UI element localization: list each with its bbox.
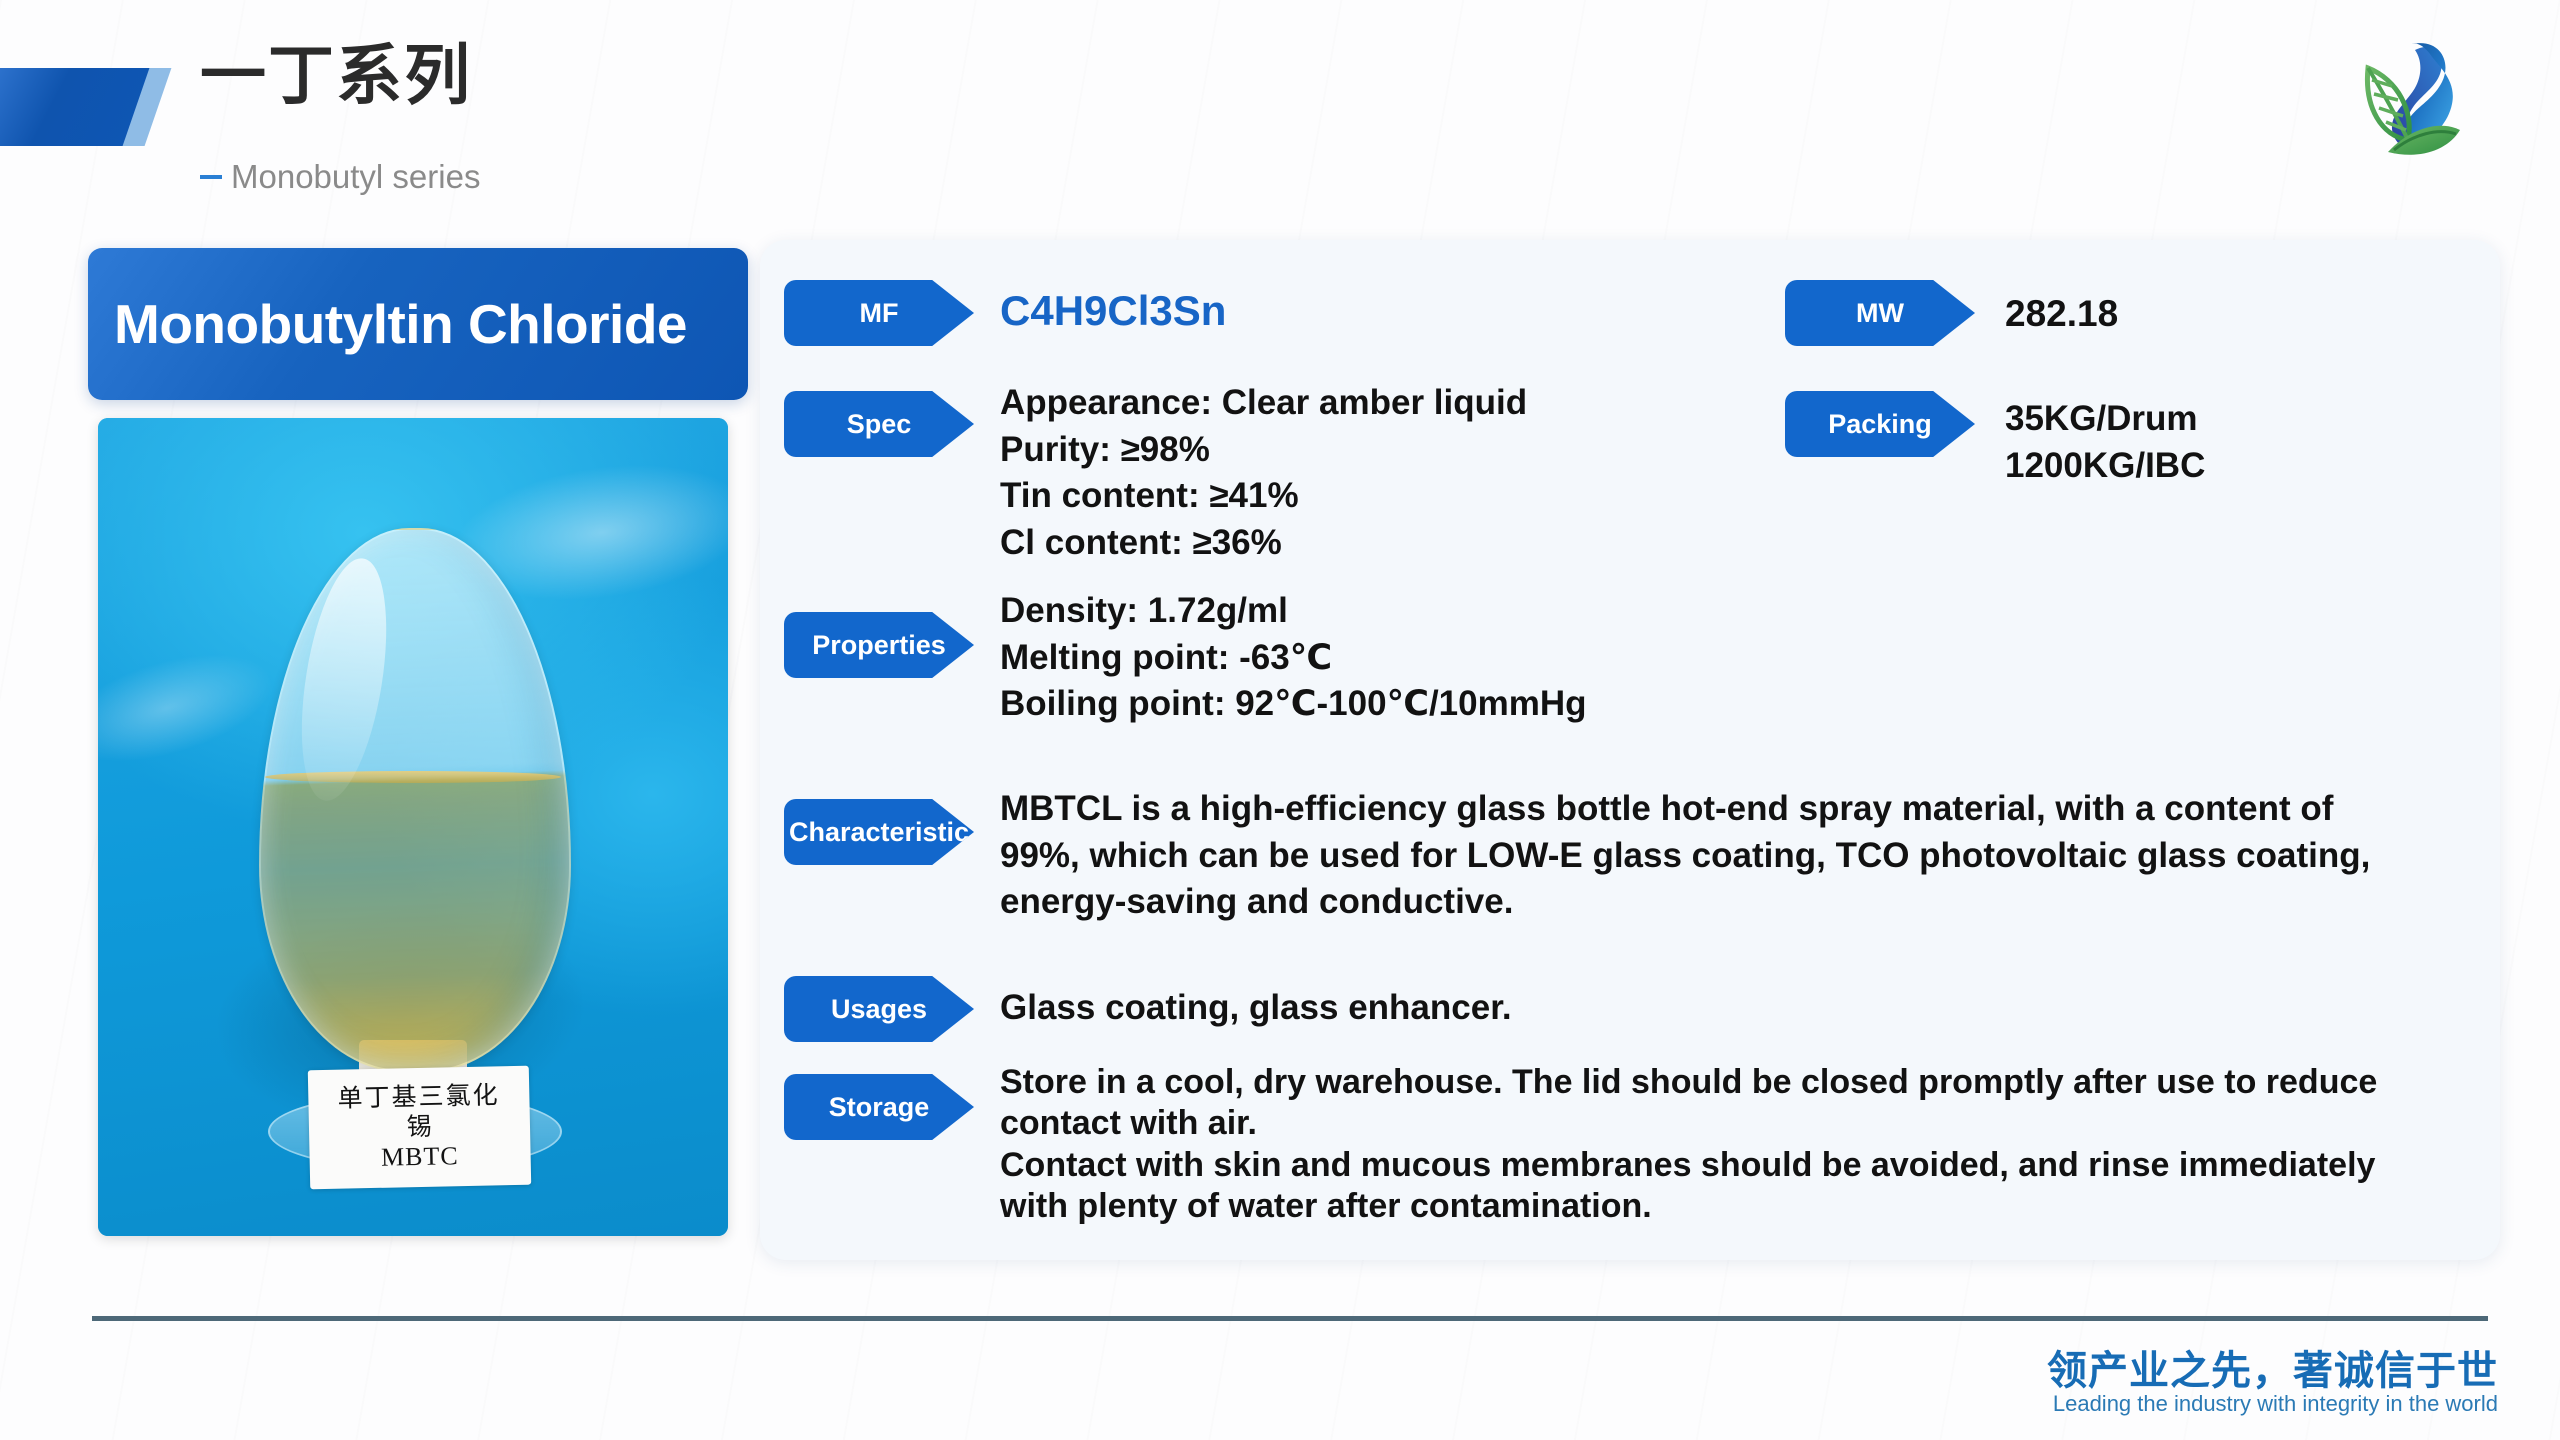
field-label-spec: Spec xyxy=(784,391,974,457)
flask-label-sticker: 单丁基三氯化 锡 MBTC xyxy=(308,1066,531,1190)
page-subtitle: Monobutyl series xyxy=(200,158,480,196)
field-label-characteristic: Characteristic xyxy=(784,799,974,865)
page-subtitle-text: Monobutyl series xyxy=(231,158,480,196)
sticker-line-3: MBTC xyxy=(381,1142,459,1174)
field-value-mf: C4H9Cl3Sn xyxy=(1000,284,1226,339)
field-value-storage: Store in a cool, dry warehouse. The lid … xyxy=(1000,1062,2440,1228)
field-label-properties: Properties xyxy=(784,612,974,678)
footer-slogan-en: Leading the industry with integrity in t… xyxy=(2053,1391,2498,1417)
field-value-characteristic: MBTCL is a high-efficiency glass bottle … xyxy=(1000,786,2420,926)
field-value-mw: 282.18 xyxy=(2005,290,2118,338)
field-label-storage-text: Storage xyxy=(829,1093,930,1121)
field-label-mw: MW xyxy=(1785,280,1975,346)
footer-divider xyxy=(92,1316,2488,1321)
field-label-packing: Packing xyxy=(1785,391,1975,457)
company-logo-icon xyxy=(2348,28,2508,178)
field-label-spec-text: Spec xyxy=(847,410,912,438)
product-name-text: Monobutyltin Chloride xyxy=(114,294,687,355)
field-label-characteristic-text: Characteristic xyxy=(789,818,969,846)
field-label-properties-text: Properties xyxy=(812,631,946,659)
field-label-usages-text: Usages xyxy=(831,995,927,1023)
sticker-line-1: 单丁基三氯化 xyxy=(337,1081,500,1114)
footer-slogan-cn: 领产业之先，著诚信于世 xyxy=(2047,1338,2498,1396)
sticker-line-2: 锡 xyxy=(406,1112,432,1142)
field-value-usages: Glass coating, glass enhancer. xyxy=(1000,985,1512,1032)
field-label-usages: Usages xyxy=(784,976,974,1042)
field-label-mw-text: MW xyxy=(1856,299,1904,327)
field-label-packing-text: Packing xyxy=(1828,410,1932,438)
subtitle-dash-icon xyxy=(200,175,222,179)
field-value-packing: 35KG/Drum 1200KG/IBC xyxy=(2005,396,2205,489)
field-value-properties: Density: 1.72g/ml Melting point: -63℃ Bo… xyxy=(1000,588,1587,728)
product-photo: 单丁基三氯化 锡 MBTC xyxy=(98,418,728,1236)
specification-panel: MF C4H9Cl3Sn MW 282.18 Spec Appearance: … xyxy=(760,240,2500,1260)
field-value-spec: Appearance: Clear amber liquid Purity: ≥… xyxy=(1000,380,1527,566)
product-spec-slide: 一丁系列 Monobutyl series xyxy=(0,0,2560,1440)
field-label-storage: Storage xyxy=(784,1074,974,1140)
product-name-card: Monobutyltin Chloride xyxy=(88,248,748,400)
field-label-mf: MF xyxy=(784,280,974,346)
field-label-mf-text: MF xyxy=(860,299,899,327)
page-title: 一丁系列 xyxy=(200,38,472,114)
header-banner-decoration xyxy=(0,68,180,146)
